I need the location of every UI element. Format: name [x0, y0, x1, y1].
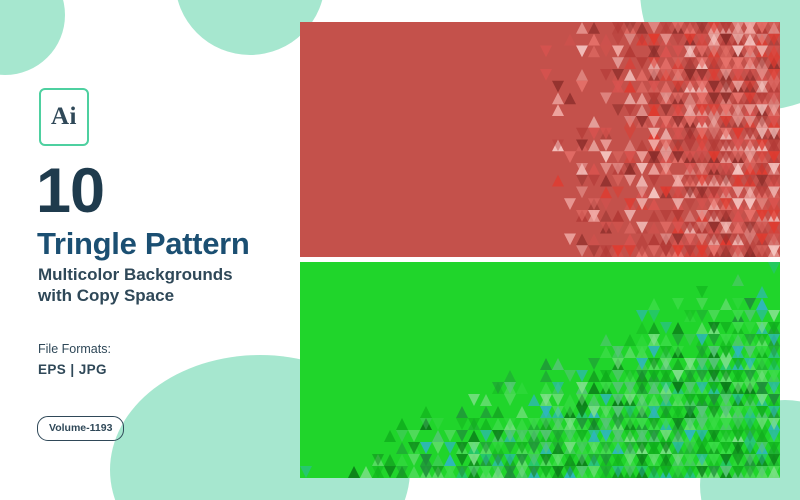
preview-gallery [300, 22, 780, 478]
adobe-illustrator-badge: Ai [39, 88, 89, 146]
green-triangle-mosaic [300, 262, 780, 478]
file-formats-label: File Formats: [38, 342, 111, 356]
red-triangle-pattern-preview [300, 22, 780, 257]
volume-badge: Volume-1193 [37, 416, 124, 441]
page-subtitle: Multicolor Backgrounds with Copy Space [38, 264, 288, 307]
item-count: 10 [36, 160, 104, 223]
red-triangle-mosaic [300, 22, 780, 257]
poster-canvas: Ai 10 Tringle Pattern Multicolor Backgro… [0, 0, 800, 500]
green-triangle-pattern-preview [300, 262, 780, 478]
page-title: Tringle Pattern [37, 228, 250, 259]
file-formats-value: EPS | JPG [38, 362, 107, 377]
info-panel: Ai 10 Tringle Pattern Multicolor Backgro… [0, 0, 300, 500]
